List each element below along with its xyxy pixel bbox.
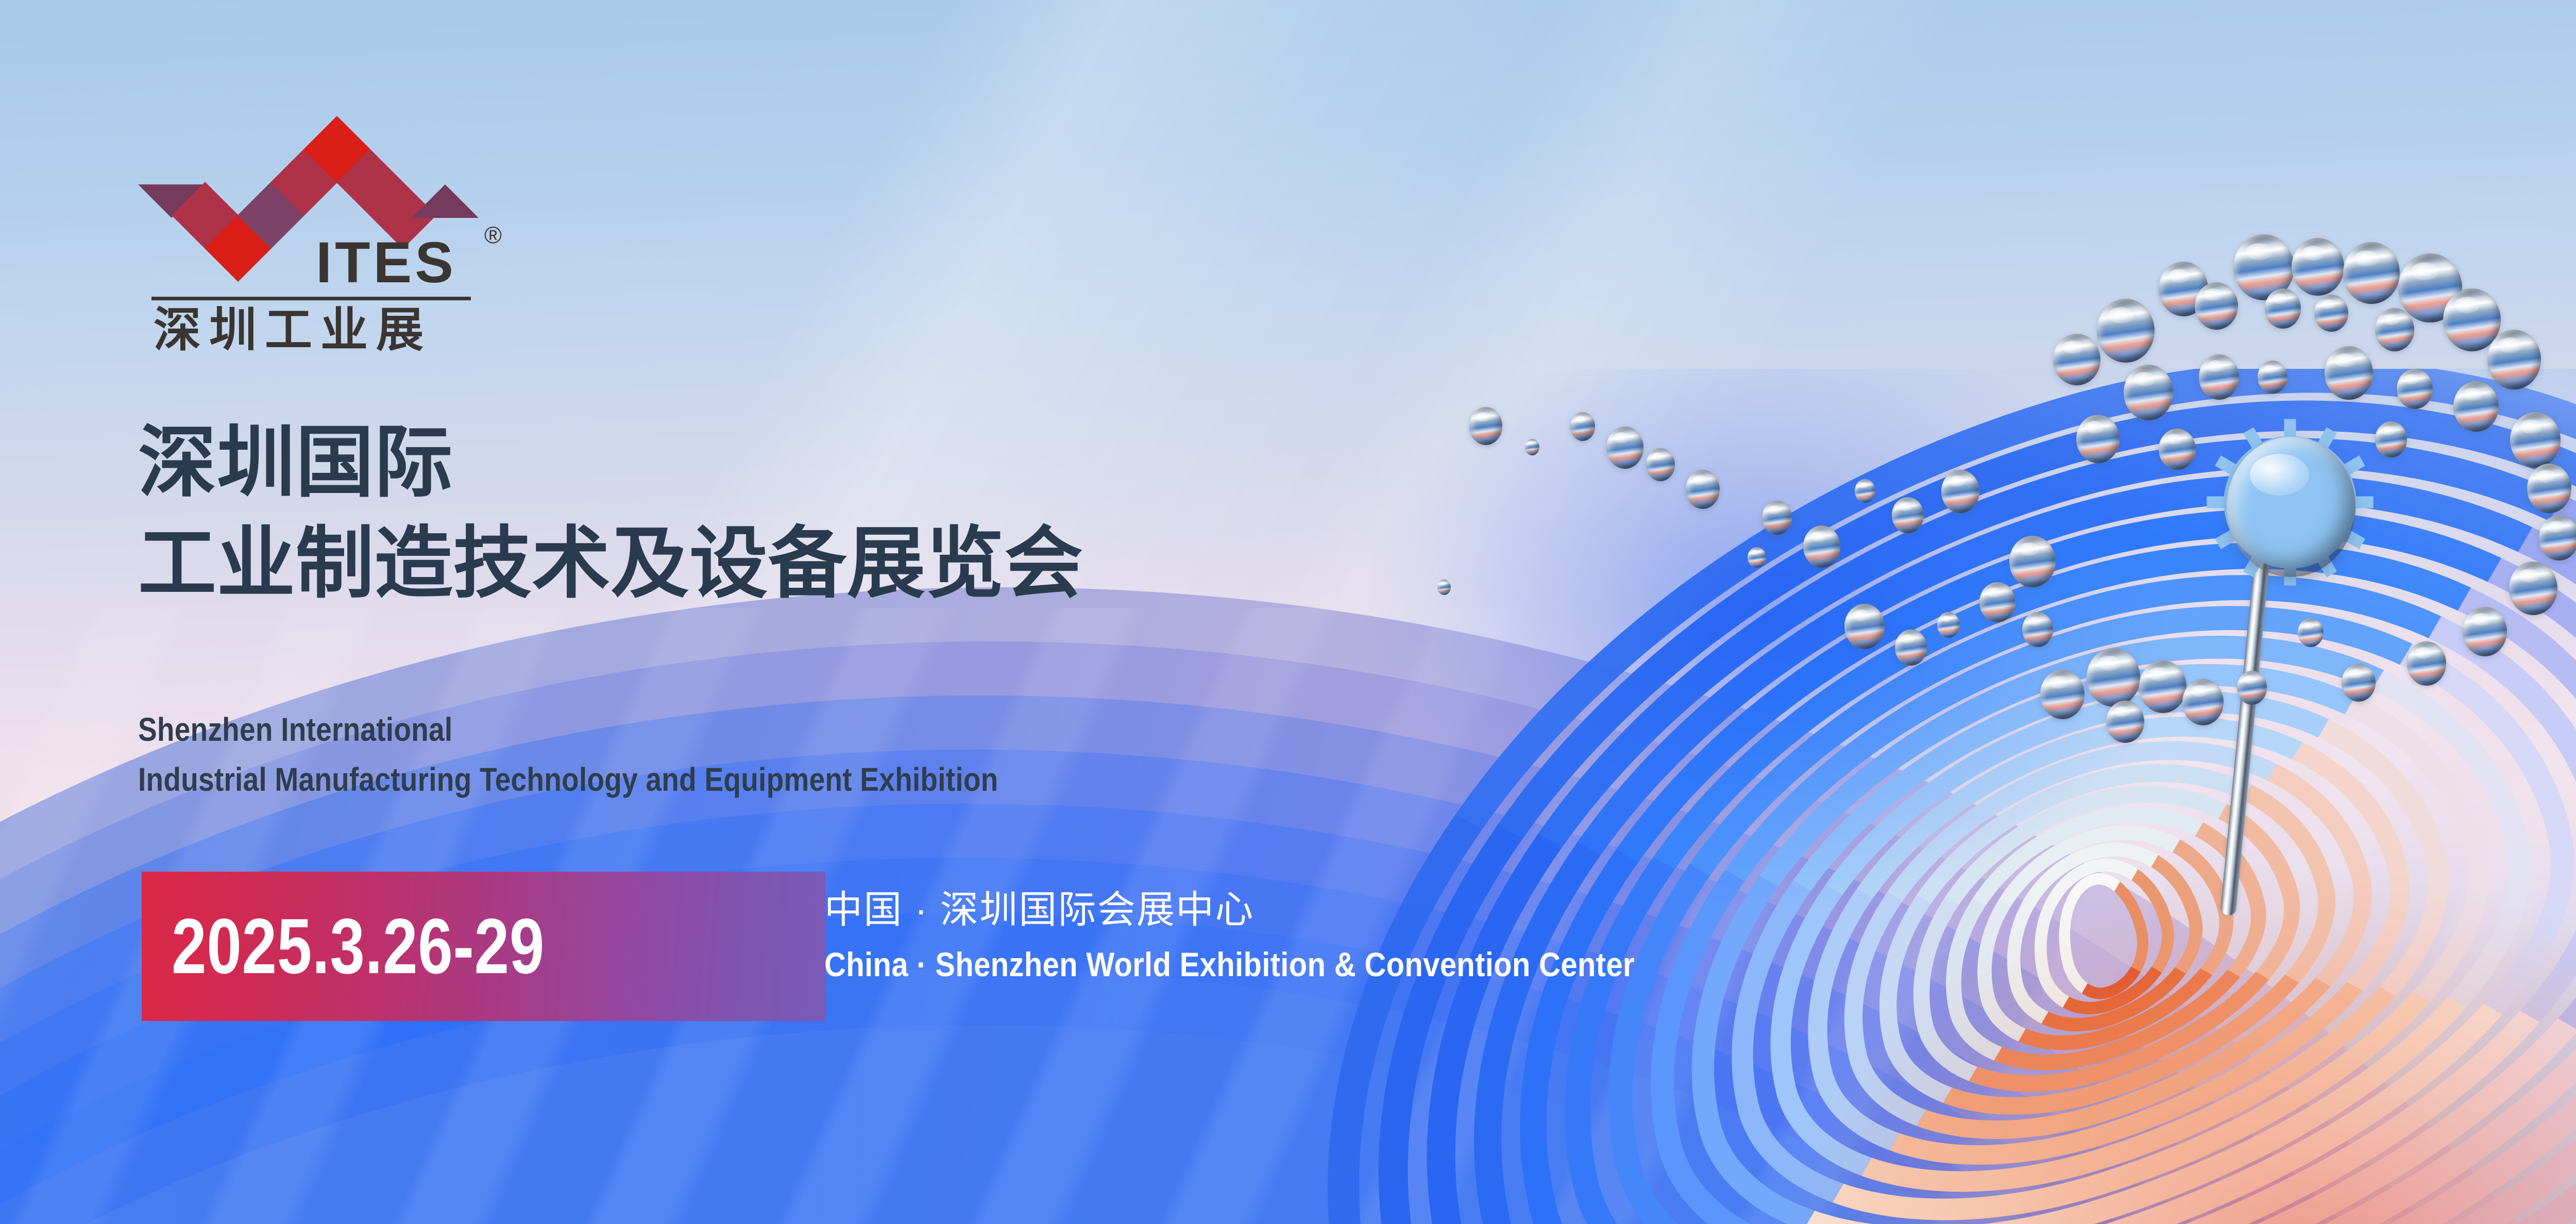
banner-canvas: ITES ® 深圳工业展 深圳国际 工业制造技术及设备展览会 Shenzhen … <box>0 0 2576 1224</box>
dandelion-stem <box>2220 546 2271 916</box>
bubble <box>2343 242 2400 304</box>
bubble <box>1748 547 1766 568</box>
bubble <box>1525 439 1539 455</box>
bubble <box>1469 407 1502 445</box>
logo-divider <box>151 297 471 300</box>
bubble <box>1762 501 1792 535</box>
ites-logo[interactable]: ITES ® 深圳工业展 <box>138 108 545 348</box>
bubble <box>1979 582 2015 622</box>
bubble <box>2237 671 2267 705</box>
bubble <box>2510 412 2561 468</box>
headline-line-2: 工业制造技术及设备展览会 <box>138 513 1083 614</box>
bubble <box>2106 701 2144 743</box>
bubble <box>2292 238 2344 296</box>
bubble <box>2040 670 2084 719</box>
bubble <box>1570 412 1595 441</box>
bubble <box>2487 330 2541 389</box>
bubble <box>1803 525 1840 568</box>
bubble <box>1646 448 1675 481</box>
bubble <box>2139 660 2187 713</box>
event-date-badge: 2025.3.26-29 <box>142 872 825 1021</box>
bubble <box>2053 334 2100 385</box>
logo-chinese-name: 深圳工业展 <box>154 304 432 356</box>
headline-line-1: 深圳国际 <box>138 412 1083 513</box>
bubble <box>1937 612 1960 638</box>
subtitle-line-1: Shenzhen International <box>138 705 998 755</box>
dandelion-core-sphere <box>2227 437 2355 577</box>
bubble <box>2076 415 2120 463</box>
bubble <box>2463 607 2507 656</box>
bubble <box>2199 354 2239 400</box>
bubble <box>2453 381 2499 432</box>
bubble <box>1686 470 1720 509</box>
venue-chinese: 中国 · 深圳国际会展中心 <box>824 889 1745 930</box>
registered-trademark-icon: ® <box>484 222 502 248</box>
bubble <box>2124 365 2173 420</box>
bubble <box>2159 429 2196 470</box>
bubble <box>2265 288 2301 329</box>
event-date-text: 2025.3.26-29 <box>172 907 545 985</box>
bubble <box>2375 421 2407 457</box>
subtitle: Shenzhen International Industrial Manufa… <box>138 705 1138 805</box>
bubble <box>1844 604 1885 649</box>
bubble <box>2527 464 2571 513</box>
bubble <box>2325 346 2373 400</box>
ites-wordmark: ITES <box>316 230 456 295</box>
bubble <box>2397 369 2433 409</box>
subtitle-line-2: Industrial Manufacturing Technology and … <box>138 755 998 805</box>
bubble <box>2298 618 2324 647</box>
bubble <box>2375 308 2414 351</box>
bubble <box>2182 679 2224 725</box>
bubble <box>2539 515 2576 560</box>
bubble <box>2407 641 2446 686</box>
bubble <box>2258 361 2287 394</box>
bubble <box>1895 630 1927 666</box>
bubble <box>2509 562 2557 615</box>
bubble <box>2009 536 2056 587</box>
bubble <box>2195 282 2238 330</box>
venue-block: 中国 · 深圳国际会展中心 China · Shenzhen World Exh… <box>824 889 1745 983</box>
bubble <box>1855 479 1875 503</box>
bubble <box>1606 427 1643 469</box>
bubble <box>1892 497 1924 533</box>
bubble <box>1941 470 1979 513</box>
bubble <box>2022 612 2053 647</box>
bubble <box>1437 580 1451 595</box>
page-title: 深圳国际 工业制造技术及设备展览会 <box>138 412 1083 614</box>
bubble <box>2097 299 2155 363</box>
bubble <box>2342 664 2376 702</box>
venue-english: China · Shenzhen World Exhibition & Conv… <box>824 946 1635 983</box>
bubble <box>2314 295 2348 332</box>
bubble <box>2087 648 2140 707</box>
